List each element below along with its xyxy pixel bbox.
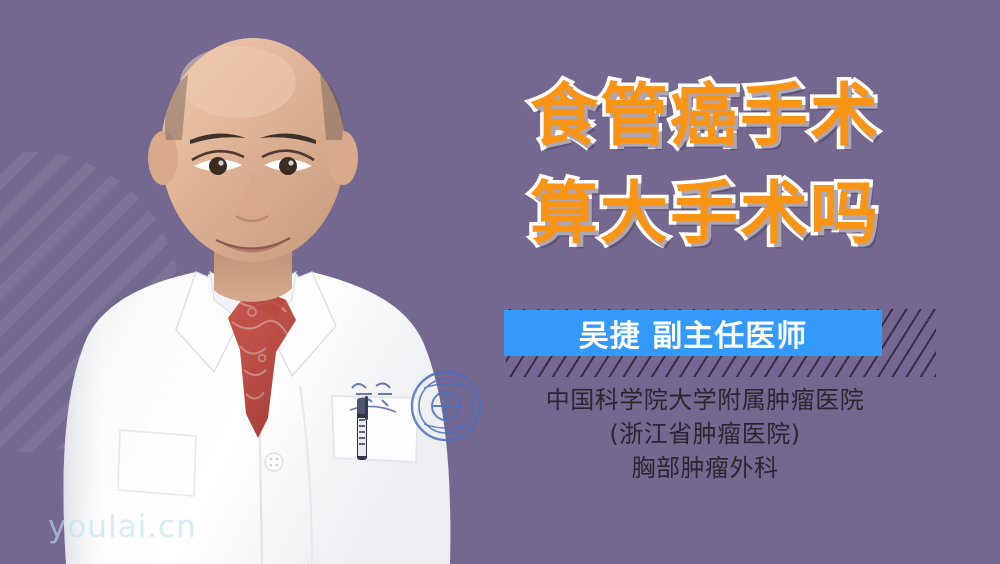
doctor-portrait-photo	[0, 0, 520, 564]
title-block: 食管癌手术 算大手术吗	[470, 68, 940, 264]
pen	[357, 396, 368, 460]
speaker-banner-label: 吴捷 副主任医师	[579, 311, 807, 355]
thumbnail-canvas: youlai.cn 食管癌手术 算大手术吗 吴捷 副主任医师 中国科学院大学附属…	[0, 0, 1000, 564]
speaker-banner-wrap: 吴捷 副主任医师	[470, 305, 940, 377]
affiliation-line-2: (浙江省肿瘤医院)	[470, 417, 940, 451]
affiliation-line-1: 中国科学院大学附属肿瘤医院	[470, 383, 940, 417]
head	[148, 38, 358, 275]
speaker-banner: 吴捷 副主任医师	[504, 310, 882, 356]
site-watermark: youlai.cn	[48, 509, 197, 545]
affiliation-line-3: 胸部肿瘤外科	[470, 451, 940, 485]
title-line-1: 食管癌手术	[470, 68, 940, 166]
affiliation-block: 中国科学院大学附属肿瘤医院 (浙江省肿瘤医院) 胸部肿瘤外科	[470, 383, 940, 485]
title-line-2: 算大手术吗	[470, 166, 940, 264]
